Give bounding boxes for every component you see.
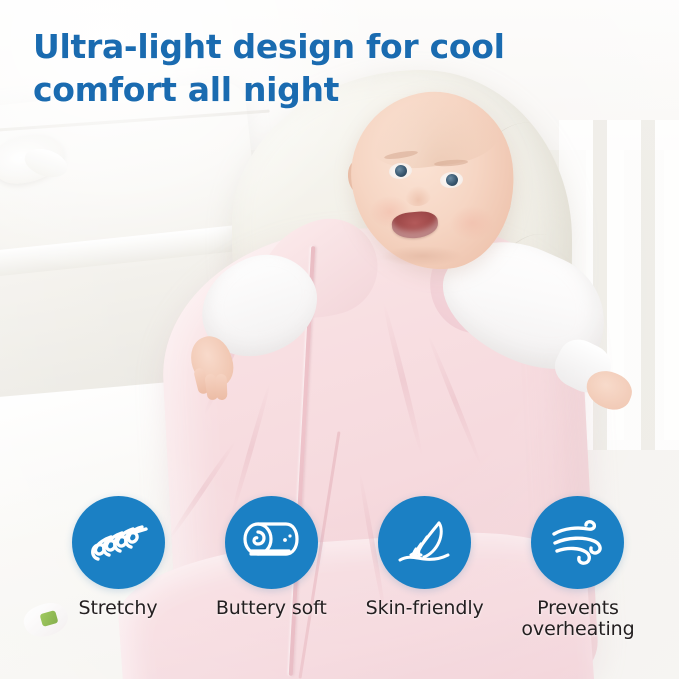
feature-badge-circle <box>531 496 624 589</box>
feature-badge-row: Stretchy Buttery soft <box>48 496 648 641</box>
feature-item-buttery-soft: Buttery soft <box>201 496 341 619</box>
feature-label: Buttery soft <box>216 598 327 619</box>
feature-label: Stretchy <box>79 598 158 619</box>
hand-touching-fabric-icon <box>394 517 456 569</box>
page-title: Ultra-light design for cool comfort all … <box>33 26 593 112</box>
feature-badge-circle <box>225 496 318 589</box>
baby-finger <box>216 374 228 400</box>
feature-item-skin-friendly: Skin-friendly <box>355 496 495 619</box>
wind-breeze-icon <box>548 518 608 568</box>
baby-cheek-right <box>450 206 494 240</box>
feature-label: Prevents overheating <box>521 598 634 641</box>
feature-item-prevents-overheating: Prevents overheating <box>508 496 648 641</box>
spring-coil-icon <box>87 519 149 567</box>
baby-chin-shadow <box>382 246 462 266</box>
feature-label: Skin-friendly <box>366 598 484 619</box>
feature-item-stretchy: Stretchy <box>48 496 188 619</box>
feature-badge-circle <box>378 496 471 589</box>
product-feature-image: Ultra-light design for cool comfort all … <box>0 0 679 679</box>
feature-badge-circle <box>72 496 165 589</box>
fabric-roll-icon <box>241 519 301 567</box>
